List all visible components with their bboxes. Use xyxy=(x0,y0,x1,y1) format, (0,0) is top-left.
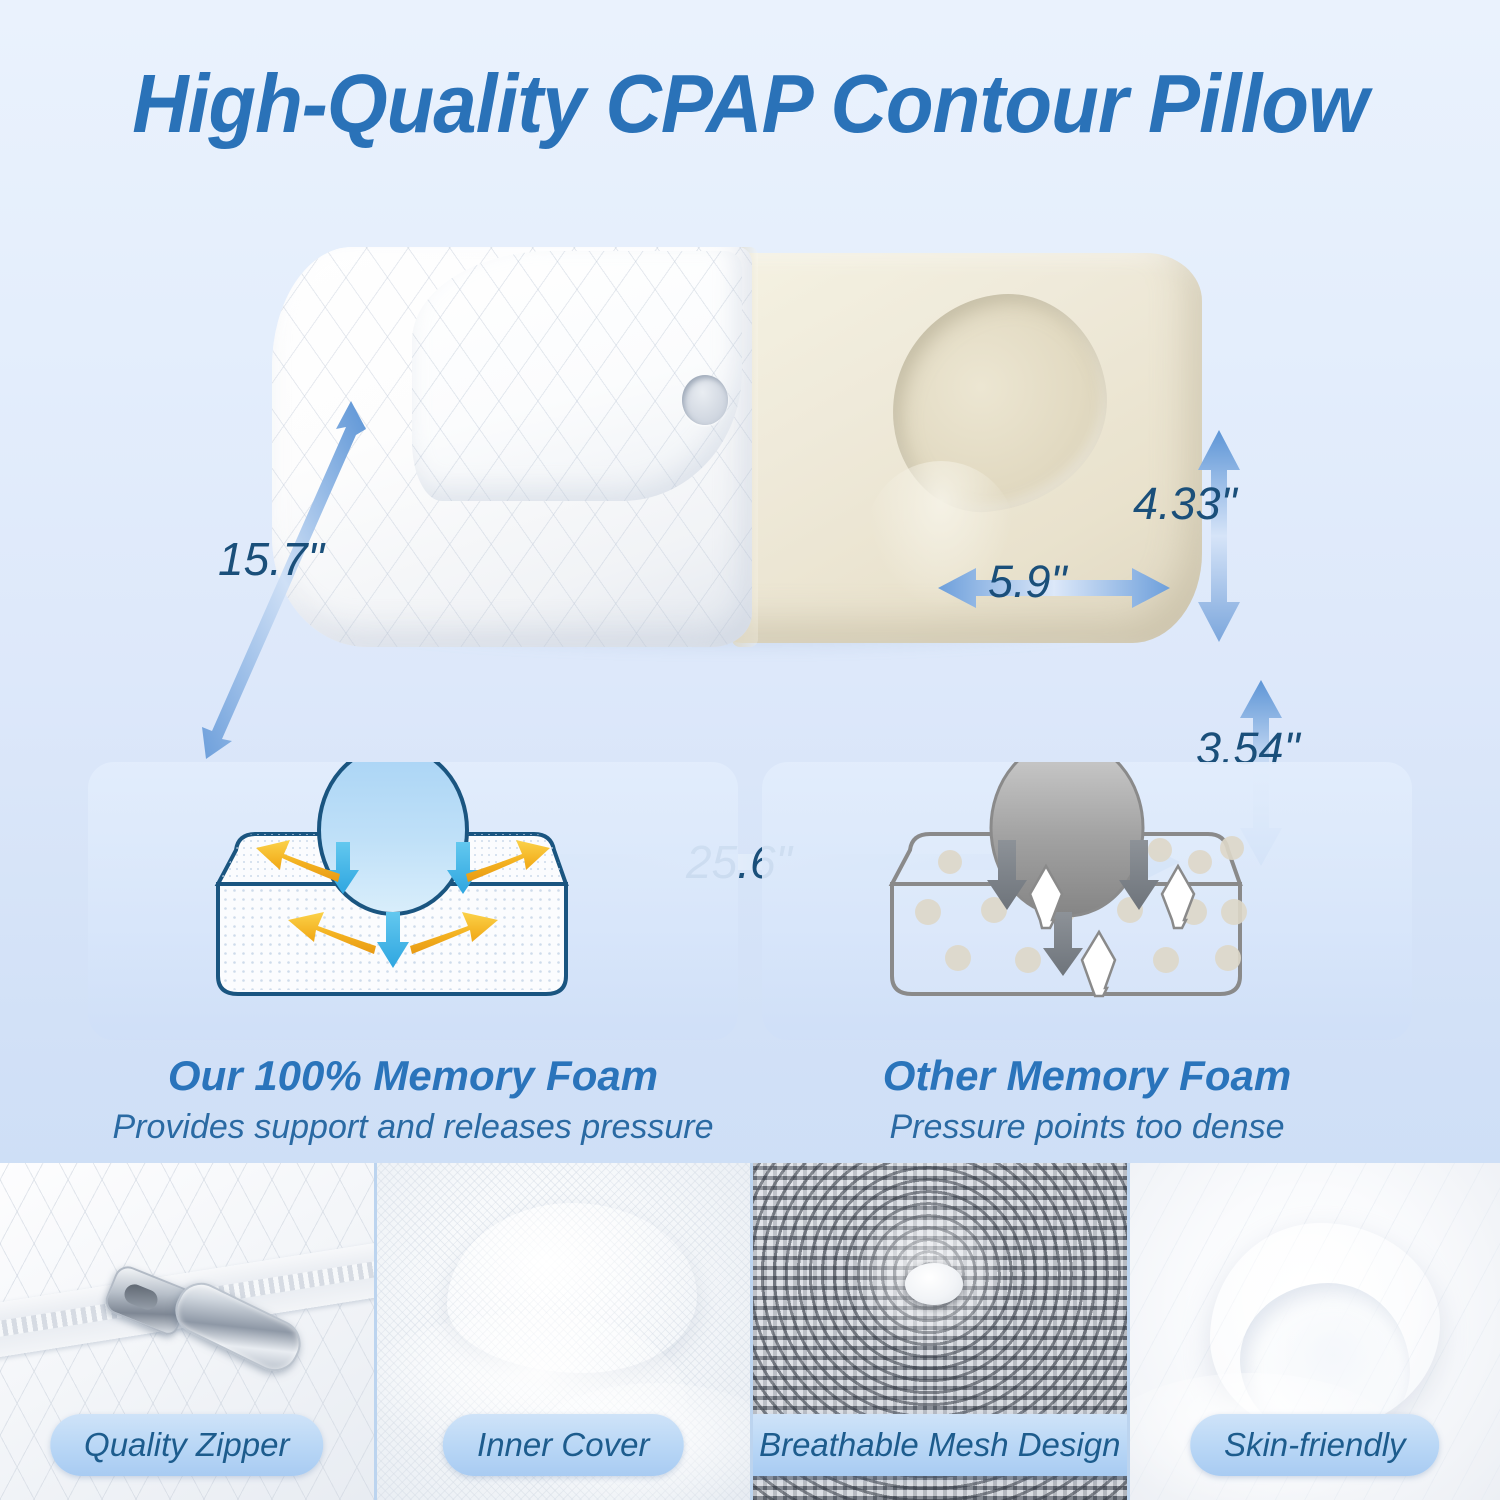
our-foam-subtitle: Provides support and releases pressure xyxy=(88,1106,738,1148)
feature-photo-inner-cover: Inner Cover xyxy=(377,1163,754,1500)
cradle-width-label: 5.9" xyxy=(988,558,1067,606)
badge-skin-friendly: Skin-friendly xyxy=(1190,1414,1440,1476)
our-foam-card xyxy=(88,762,738,1040)
contour-height-arrow-icon xyxy=(1196,430,1242,642)
badge-inner-cover: Inner Cover xyxy=(443,1414,683,1476)
feature-photo-mesh: Breathable Mesh Design xyxy=(753,1163,1130,1500)
feature-photo-skin-friendly: Skin-friendly xyxy=(1130,1163,1500,1500)
other-foam-title: Other Memory Foam xyxy=(762,1050,1412,1102)
mesh-grommet-hole xyxy=(905,1263,963,1305)
badge-quality-zipper: Quality Zipper xyxy=(50,1414,323,1476)
contour-height-label: 4.33" xyxy=(1133,480,1237,528)
feature-photo-zipper: Quality Zipper xyxy=(0,1163,377,1500)
other-foam-caption: Other Memory Foam Pressure points too de… xyxy=(762,1050,1412,1148)
hero-product-section: 15.7" 4.33" 5.9" xyxy=(0,180,1500,740)
other-foam-card xyxy=(762,762,1412,1040)
depth-dimension-label: 15.7" xyxy=(218,535,324,583)
page-title: High-Quality CPAP Contour Pillow xyxy=(45,56,1455,151)
infographic-page: High-Quality CPAP Contour Pillow xyxy=(0,0,1500,1500)
badge-breathable-mesh: Breathable Mesh Design xyxy=(753,1414,1130,1476)
our-foam-caption: Our 100% Memory Foam Provides support an… xyxy=(88,1050,738,1148)
pillow-lobe-texture xyxy=(412,251,742,501)
foam-pressure-diagram-icon xyxy=(762,762,1412,1040)
foam-support-diagram-icon xyxy=(88,762,738,1040)
pillow-vent-hole xyxy=(682,375,728,425)
other-foam-subtitle: Pressure points too dense xyxy=(762,1106,1412,1148)
feature-photo-strip: Quality Zipper Inner Cover Breathable Me… xyxy=(0,1163,1500,1500)
foam-comparison-section: Our 100% Memory Foam Provides support an… xyxy=(0,762,1500,1162)
our-foam-title: Our 100% Memory Foam xyxy=(88,1050,738,1102)
depth-dimension-arrow-icon xyxy=(170,395,400,775)
